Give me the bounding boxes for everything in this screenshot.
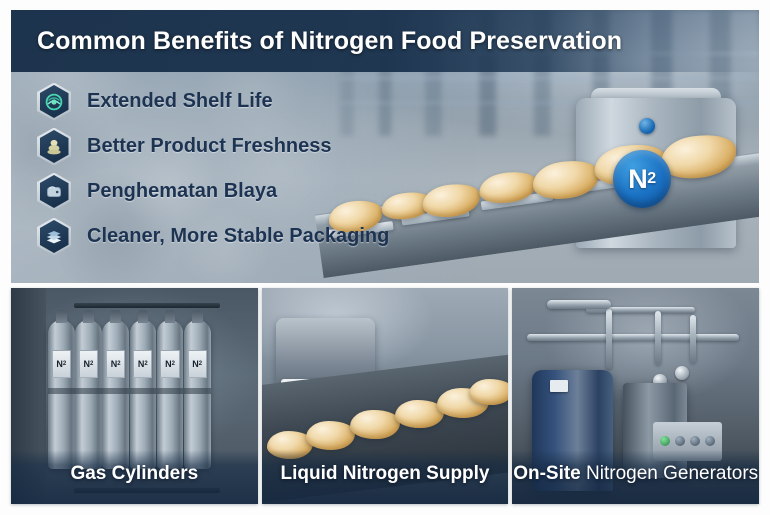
hero-section: N2 Common Benefits of Nitrogen Food Pres… — [11, 10, 759, 283]
cylinder-label: N2 — [188, 350, 207, 378]
panel3-caption: On-Site Nitrogen Generators — [512, 450, 759, 504]
panel-gas-cylinders[interactable]: N2 N2 N2 N2 N2 N2 Gas Cylinders — [11, 288, 258, 504]
panel1-caption: Gas Cylinders — [11, 450, 258, 504]
panel1-caption-text: Gas Cylinders — [70, 463, 198, 485]
benefit-item-cleaner-packaging: Cleaner, More Stable Packaging — [37, 219, 389, 254]
panel3-tank-tag — [550, 380, 568, 392]
panel3-gauge — [675, 366, 689, 380]
cylinder-label: N2 — [79, 350, 98, 378]
panel2-food-items — [262, 353, 509, 461]
benefit-label: Extended Shelf Life — [87, 90, 273, 113]
cylinder-label: N2 — [133, 350, 152, 378]
panel-liquid-nitrogen-supply[interactable]: Liquid Nitrogen Supply — [262, 288, 509, 504]
panel3-caption-text: On-Site Nitrogen Generators — [513, 463, 758, 485]
panels-row: N2 N2 N2 N2 N2 N2 Gas Cylinders — [11, 288, 759, 504]
benefit-item-penghematan-blaya: Penghematan Blaya — [37, 174, 389, 209]
benefits-list: Extended Shelf Life Better Product Fresh… — [37, 84, 389, 254]
title-bar: Common Benefits of Nitrogen Food Preserv… — [11, 10, 759, 72]
panel3-caption-light: Nitrogen Generators — [581, 463, 758, 484]
n2-badge-subscript: 2 — [647, 170, 655, 188]
page-title: Common Benefits of Nitrogen Food Preserv… — [37, 27, 622, 56]
shelf-life-icon — [40, 85, 69, 118]
cylinder-label: N2 — [52, 350, 71, 378]
panel-onsite-nitrogen-generators[interactable]: On-Site Nitrogen Generators — [512, 288, 759, 504]
cylinder-label: N2 — [160, 350, 179, 378]
n2-badge: N2 — [613, 150, 671, 208]
n2-badge-element: N — [628, 164, 647, 195]
cost-savings-icon-badge — [37, 173, 71, 211]
cylinder-label: N2 — [106, 350, 125, 378]
cost-savings-icon — [40, 175, 69, 208]
panel3-caption-bold: On-Site — [513, 463, 581, 484]
packaging-icon — [40, 220, 69, 253]
benefit-label: Penghematan Blaya — [87, 180, 277, 203]
panel2-caption-text: Liquid Nitrogen Supply — [281, 463, 490, 485]
freshness-icon — [40, 130, 69, 163]
infographic-root: N2 Common Benefits of Nitrogen Food Pres… — [0, 0, 770, 515]
freshness-icon-badge — [37, 128, 71, 166]
benefit-item-extended-shelf-life: Extended Shelf Life — [37, 84, 389, 119]
packaging-icon-badge — [37, 218, 71, 256]
benefit-label: Cleaner, More Stable Packaging — [87, 225, 389, 248]
panel2-caption: Liquid Nitrogen Supply — [262, 450, 509, 504]
shelf-life-icon-badge — [37, 83, 71, 121]
benefit-item-better-product-freshness: Better Product Freshness — [37, 129, 389, 164]
benefit-label: Better Product Freshness — [87, 135, 332, 158]
